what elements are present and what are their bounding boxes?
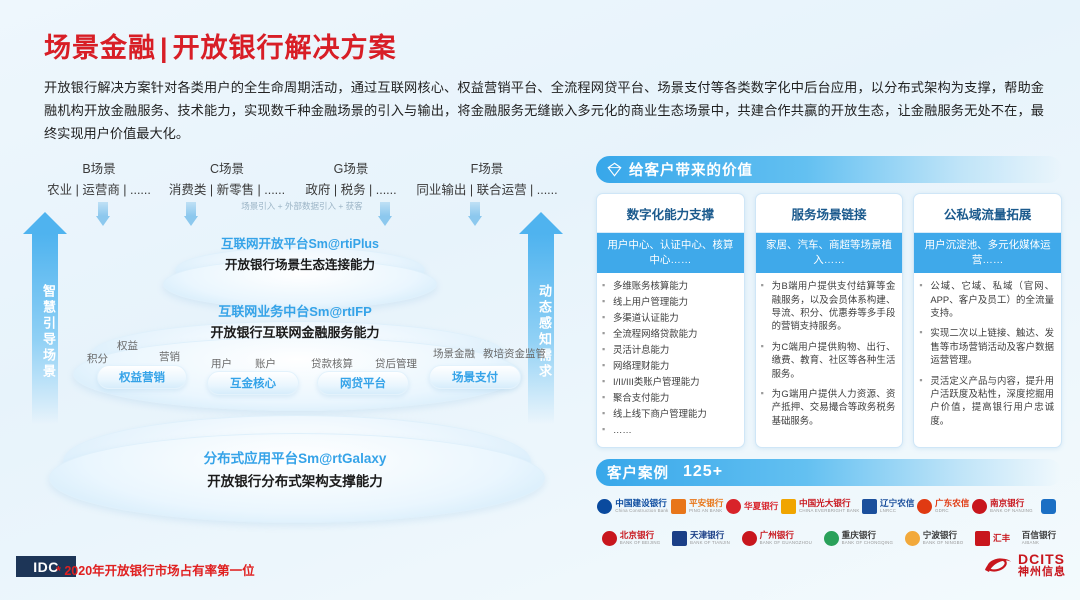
list-item: ▪多渠道认证能力 (602, 311, 737, 325)
scenario-tag: F场景 (402, 158, 572, 177)
scenario-sub: 同业输出 | 联合运营 | ...... (402, 179, 572, 198)
logo-mark-icon (917, 499, 932, 514)
bullet-icon: ▪ (602, 327, 613, 341)
page-title-separator: | (156, 33, 173, 63)
logo-name-cn: 宁波银行 (923, 530, 957, 540)
bullet-icon: ▪ (602, 311, 613, 325)
logo-name-cn: 南京银行 (990, 498, 1024, 508)
list-item-text: 为G端用户提供人力资源、资产抵押、交易撮合等政务税务基础服务。 (772, 387, 896, 427)
scenario-column-f: F场景 同业输出 | 联合运营 | ...... (402, 158, 572, 198)
list-item: ▪公域、它域、私域（官网、APP、客户及员工）的全流量支持。 (919, 279, 1054, 319)
bullet-icon: ▪ (602, 375, 613, 389)
logo-pingan: 平安银行PING AN BANK (670, 493, 725, 520)
layer-label-top: 互联网开放平台Sm@rtiPlus 开放银行场景生态连接能力 (135, 233, 465, 273)
logo-mark-icon (975, 531, 990, 546)
module-pill-quanyi-yingxiao[interactable]: 权益营销 (97, 365, 187, 389)
logo-name-cn: 天津银行 (690, 530, 724, 540)
bullet-icon: ▪ (602, 343, 613, 357)
dcits-brand-cn: 神州信息 (1018, 567, 1066, 579)
list-item: ▪…… (602, 423, 737, 437)
logo-name-en: BANK OF CHONGQING (842, 541, 893, 546)
bullet-icon: ▪ (602, 391, 613, 405)
module-pill-hujin-hexin[interactable]: 互金核心 (207, 371, 299, 395)
logo-name-cn: 中国建设银行 (615, 498, 667, 508)
logo-everbright: 中国光大银行CHINA EVERBRIGHT BANK (780, 493, 861, 520)
idc-logo-text: IDC (33, 559, 59, 575)
list-item: ▪灵活计息能力 (602, 343, 737, 357)
layer-platform-name: 互联网业务中台Sm@rtIFP (115, 301, 475, 320)
value-band: 给客户带来的价值 (596, 156, 1062, 183)
logo-misc (1034, 493, 1062, 520)
logo-chongqing: 重庆银行BANK OF CHONGQING (818, 525, 899, 552)
module-pill-wangdai-pingtai[interactable]: 网贷平台 (317, 371, 409, 395)
platform-stack: 互联网开放平台Sm@rtiPlus 开放银行场景生态连接能力 互联网业务中台Sm… (55, 225, 535, 510)
cases-band: 客户案例 125+ (596, 459, 1062, 486)
value-card-title: 数字化能力支撑 (597, 194, 744, 233)
logo-ccb: 中国建设银行China Construction Bank (596, 493, 670, 520)
logo-name-en: BANK OF NANJING (990, 509, 1033, 514)
logo-aibank: 百信银行AIBANK (1016, 525, 1062, 552)
list-item: ▪灵活定义产品与内容，提升用户活跃度及粘性，深度挖掘用户价值，提高银行用户忠诚度… (919, 374, 1054, 427)
value-card-body: ▪公域、它域、私域（官网、APP、客户及员工）的全流量支持。 ▪实现二次以上链接… (914, 273, 1061, 441)
layer-capability: 开放银行互联网金融服务能力 (115, 322, 475, 341)
logo-name-cn: 广东农信 (935, 498, 969, 508)
logo-hsbc: 汇丰 (969, 525, 1016, 552)
layer-capability: 开放银行场景生态连接能力 (135, 254, 465, 273)
module-item-daihou: 贷后管理 (375, 356, 417, 371)
list-item-text: 实现二次以上链接、触达、发售等市场营销活动及客户数据运营管理。 (930, 326, 1054, 366)
bullet-icon: ▪ (761, 340, 772, 380)
logo-mark-icon (972, 499, 987, 514)
logo-mark-icon (726, 499, 741, 514)
value-card-body: ▪多维账务核算能力 ▪线上用户管理能力 ▪多渠道认证能力 ▪全流程网络贷款能力 … (597, 273, 744, 446)
logo-mark-icon (781, 499, 796, 514)
page-title-sub: 开放银行解决方案 (173, 33, 397, 63)
logo-mark-icon (824, 531, 839, 546)
bullet-icon: ▪ (761, 279, 772, 332)
footer-note: * 2020年开放银行市场占有率第一位 (56, 560, 255, 579)
logo-huaxia: 华夏银行 (725, 493, 780, 520)
logo-name-en: LNRCC (880, 509, 914, 514)
list-item: ▪为G端用户提供人力资源、资产抵押、交易撮合等政务税务基础服务。 (761, 387, 896, 427)
list-item-text: 为C端用户提供购物、出行、缴费、教育、社区等各种生活服务。 (772, 340, 896, 380)
list-item: ▪全流程网络贷款能力 (602, 327, 737, 341)
dcits-swoosh-icon (983, 554, 1013, 576)
bullet-icon: ▪ (761, 387, 772, 427)
list-item: ▪为C端用户提供购物、出行、缴费、教育、社区等各种生活服务。 (761, 340, 896, 380)
value-card-2[interactable]: 服务场景链接 家居、汽车、商超等场景植入…… ▪为B端用户提供支付结算等金融服务… (755, 193, 904, 448)
logo-mark-icon (597, 499, 612, 514)
bullet-icon: ▪ (919, 279, 930, 319)
cases-band-title: 客户案例 (607, 462, 669, 483)
logo-name-en: BANK OF BEIJING (620, 541, 661, 546)
list-item: ▪I/II/III类账户管理能力 (602, 375, 737, 389)
list-item-text: 线上线下商户管理能力 (613, 407, 707, 421)
bullet-icon: ▪ (602, 359, 613, 373)
logo-nanjing: 南京银行BANK OF NANJING (971, 493, 1034, 520)
logo-name-cn: 北京银行 (620, 530, 654, 540)
list-item: ▪聚合支付能力 (602, 391, 737, 405)
cases-count: 125+ (683, 463, 723, 481)
module-item-yingxiao: 营销 (159, 349, 180, 364)
logo-mark-icon (1041, 499, 1056, 514)
value-card-1[interactable]: 数字化能力支撑 用户中心、认证中心、核算中心…… ▪多维账务核算能力 ▪线上用户… (596, 193, 745, 448)
logo-name-cn: 广州银行 (760, 530, 794, 540)
module-item-zhanghu: 账户 (255, 356, 276, 371)
layer-platform-name: 互联网开放平台Sm@rtiPlus (135, 233, 465, 252)
intro-paragraph: 开放银行解决方案针对各类用户的全生命周期活动，通过互联网核心、权益营销平台、全流… (44, 76, 1044, 145)
list-item: ▪实现二次以上链接、触达、发售等市场营销活动及客户数据运营管理。 (919, 326, 1054, 366)
logo-name-cn: 华夏银行 (744, 501, 778, 511)
bullet-icon: ▪ (602, 295, 613, 309)
layer-label-mid: 互联网业务中台Sm@rtIFP 开放银行互联网金融服务能力 (115, 301, 475, 341)
module-item-daikuan: 贷款核算 (311, 356, 353, 371)
list-item-text: …… (613, 423, 632, 437)
logo-name-cn: 平安银行 (689, 498, 723, 508)
list-item: ▪为B端用户提供支付结算等金融服务，以及会员体系构建、导流、积分、优惠券等多手段… (761, 279, 896, 332)
page-title: 场景金融|开放银行解决方案 (44, 26, 397, 65)
customer-logos: 中国建设银行China Construction Bank 平安银行PING A… (596, 493, 1062, 552)
logo-name-en: BANK OF NINGBO (923, 541, 964, 546)
bullet-icon: ▪ (919, 374, 930, 427)
logo-name-cn: 重庆银行 (842, 530, 876, 540)
list-item-text: 网络理财能力 (613, 359, 669, 373)
list-item-text: 多渠道认证能力 (613, 311, 679, 325)
list-item-text: 全流程网络贷款能力 (613, 327, 697, 341)
logo-row-1: 中国建设银行China Construction Bank 平安银行PING A… (596, 493, 1062, 520)
logo-row-2: 北京银行BANK OF BEIJING 天津银行BANK OF TIANJIN … (596, 525, 1062, 552)
logo-name-en: PING AN BANK (689, 509, 723, 514)
list-item-text: 公域、它域、私域（官网、APP、客户及员工）的全流量支持。 (930, 279, 1054, 319)
value-card-subtitle: 用户沉淀池、多元化媒体运营…… (914, 233, 1061, 273)
bullet-icon: ▪ (602, 407, 613, 421)
value-card-body: ▪为B端用户提供支付结算等金融服务，以及会员体系构建、导流、积分、优惠券等多手段… (756, 273, 903, 441)
logo-name-cn: 汇丰 (993, 533, 1010, 543)
logo-name-en: China Construction Bank (615, 509, 668, 514)
layer-platform-name: 分布式应用平台Sm@rtGalaxy (115, 447, 475, 467)
logo-name-cn: 百信银行 (1022, 530, 1056, 540)
list-item: ▪线上用户管理能力 (602, 295, 737, 309)
list-item-text: 灵活计息能力 (613, 343, 669, 357)
list-item-text: 线上用户管理能力 (613, 295, 688, 309)
logo-name-en: AIBANK (1022, 541, 1056, 546)
list-item-text: 聚合支付能力 (613, 391, 669, 405)
logo-guangzhou: 广州银行BANK OF GUANGZHOU (736, 525, 818, 552)
module-item-yonghu: 用户 (211, 356, 232, 371)
logo-mark-icon (905, 531, 920, 546)
module-item-jifen: 积分 (87, 351, 108, 366)
flow-note: 场景引入 + 外部数据引入 + 获客 (212, 200, 392, 212)
list-item: ▪线上线下商户管理能力 (602, 407, 737, 421)
logo-name-en: CHINA EVERBRIGHT BANK (799, 509, 859, 514)
bullet-icon: ▪ (602, 423, 613, 437)
module-item-quanyi: 权益 (117, 338, 138, 353)
list-item-text: 灵活定义产品与内容，提升用户活跃度及粘性，深度挖掘用户价值，提高银行用户忠诚度。 (930, 374, 1054, 427)
logo-name-cn: 中国光大银行 (799, 498, 851, 508)
logo-name-en: GDRC (935, 509, 969, 514)
module-item-changjing: 场景金融 (433, 346, 475, 361)
bullet-icon: ▪ (919, 326, 930, 366)
logo-mark-icon (862, 499, 877, 514)
value-cards: 数字化能力支撑 用户中心、认证中心、核算中心…… ▪多维账务核算能力 ▪线上用户… (596, 193, 1062, 448)
layer-capability: 开放银行分布式架构支撑能力 (115, 470, 475, 490)
bullet-icon: ▪ (602, 279, 613, 293)
logo-beijing: 北京银行BANK OF BEIJING (596, 525, 666, 552)
logo-lnrcc: 辽宁农信LNRCC (861, 493, 916, 520)
value-card-3[interactable]: 公私域流量拓展 用户沉淀池、多元化媒体运营…… ▪公域、它域、私域（官网、APP… (913, 193, 1062, 448)
logo-tianjin: 天津银行BANK OF TIANJIN (666, 525, 736, 552)
list-item: ▪网络理财能力 (602, 359, 737, 373)
logo-mark-icon (671, 499, 686, 514)
value-band-title: 给客户带来的价值 (629, 159, 753, 180)
logo-gdrc: 广东农信GDRC (916, 493, 971, 520)
module-pill-changjing-zhifu[interactable]: 场景支付 (429, 365, 521, 389)
logo-name-en: BANK OF TIANJIN (690, 541, 730, 546)
logo-mark-icon (742, 531, 757, 546)
list-item-text: 多维账务核算能力 (613, 279, 688, 293)
list-item: ▪多维账务核算能力 (602, 279, 737, 293)
value-card-subtitle: 用户中心、认证中心、核算中心…… (597, 233, 744, 273)
page-title-main: 场景金融 (44, 33, 156, 63)
logo-name-en: BANK OF GUANGZHOU (760, 541, 812, 546)
solution-diagram: B场景 农业 | 运营商 | ...... C场景 消费类 | 新零售 | ..… (0, 150, 590, 510)
logo-mark-icon (602, 531, 617, 546)
value-card-title: 服务场景链接 (756, 194, 903, 233)
dcits-brand-en: DCITS (1018, 552, 1066, 567)
layer-label-bottom: 分布式应用平台Sm@rtGalaxy 开放银行分布式架构支撑能力 (115, 447, 475, 490)
value-card-title: 公私域流量拓展 (914, 194, 1061, 233)
list-item-text: I/II/III类账户管理能力 (613, 375, 699, 389)
logo-mark-icon (672, 531, 687, 546)
diamond-icon (607, 162, 622, 177)
list-item-text: 为B端用户提供支付结算等金融服务，以及会员体系构建、导流、积分、优惠券等多手段的… (772, 279, 896, 332)
module-item-jiaopei: 教培资金监管 (483, 346, 546, 361)
logo-name-cn: 辽宁农信 (880, 498, 914, 508)
dcits-logo: DCITS 神州信息 (983, 552, 1066, 578)
logo-ningbo: 宁波银行BANK OF NINGBO (899, 525, 969, 552)
value-card-subtitle: 家居、汽车、商超等场景植入…… (756, 233, 903, 273)
value-panel: 给客户带来的价值 数字化能力支撑 用户中心、认证中心、核算中心…… ▪多维账务核… (596, 156, 1062, 552)
